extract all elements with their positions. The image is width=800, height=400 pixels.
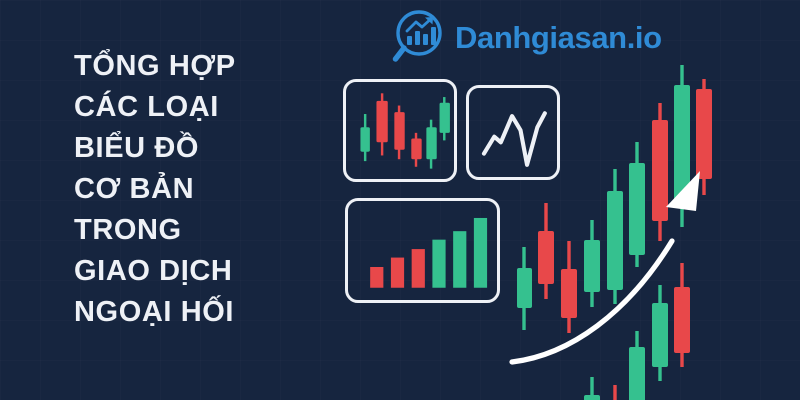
poster-canvas: TỔNG HỢP CÁC LOẠI BIỂU ĐỒ CƠ BẢN TRONG G… (0, 0, 800, 400)
title-line-4: CƠ BẢN (74, 169, 304, 210)
title-line-3: BIỂU ĐỒ (74, 128, 304, 169)
candlestick-chart-panel (343, 79, 457, 182)
title-line-7: NGOẠI HỐI (74, 292, 304, 333)
title-line-2: CÁC LOẠI (74, 87, 304, 128)
title-line-6: GIAO DỊCH (74, 251, 304, 292)
title-line-1: TỔNG HỢP (74, 46, 304, 87)
main-uptrend-chart (500, 55, 800, 400)
brand-name: Danhgiasan.io (455, 22, 662, 53)
bar-chart-panel (345, 198, 500, 303)
candle-group-upper (652, 65, 712, 241)
page-title: TỔNG HỢP CÁC LOẠI BIỂU ĐỒ CƠ BẢN TRONG G… (74, 46, 304, 333)
magnifier-bar-chart-icon (392, 9, 446, 65)
title-line-5: TRONG (74, 210, 304, 251)
